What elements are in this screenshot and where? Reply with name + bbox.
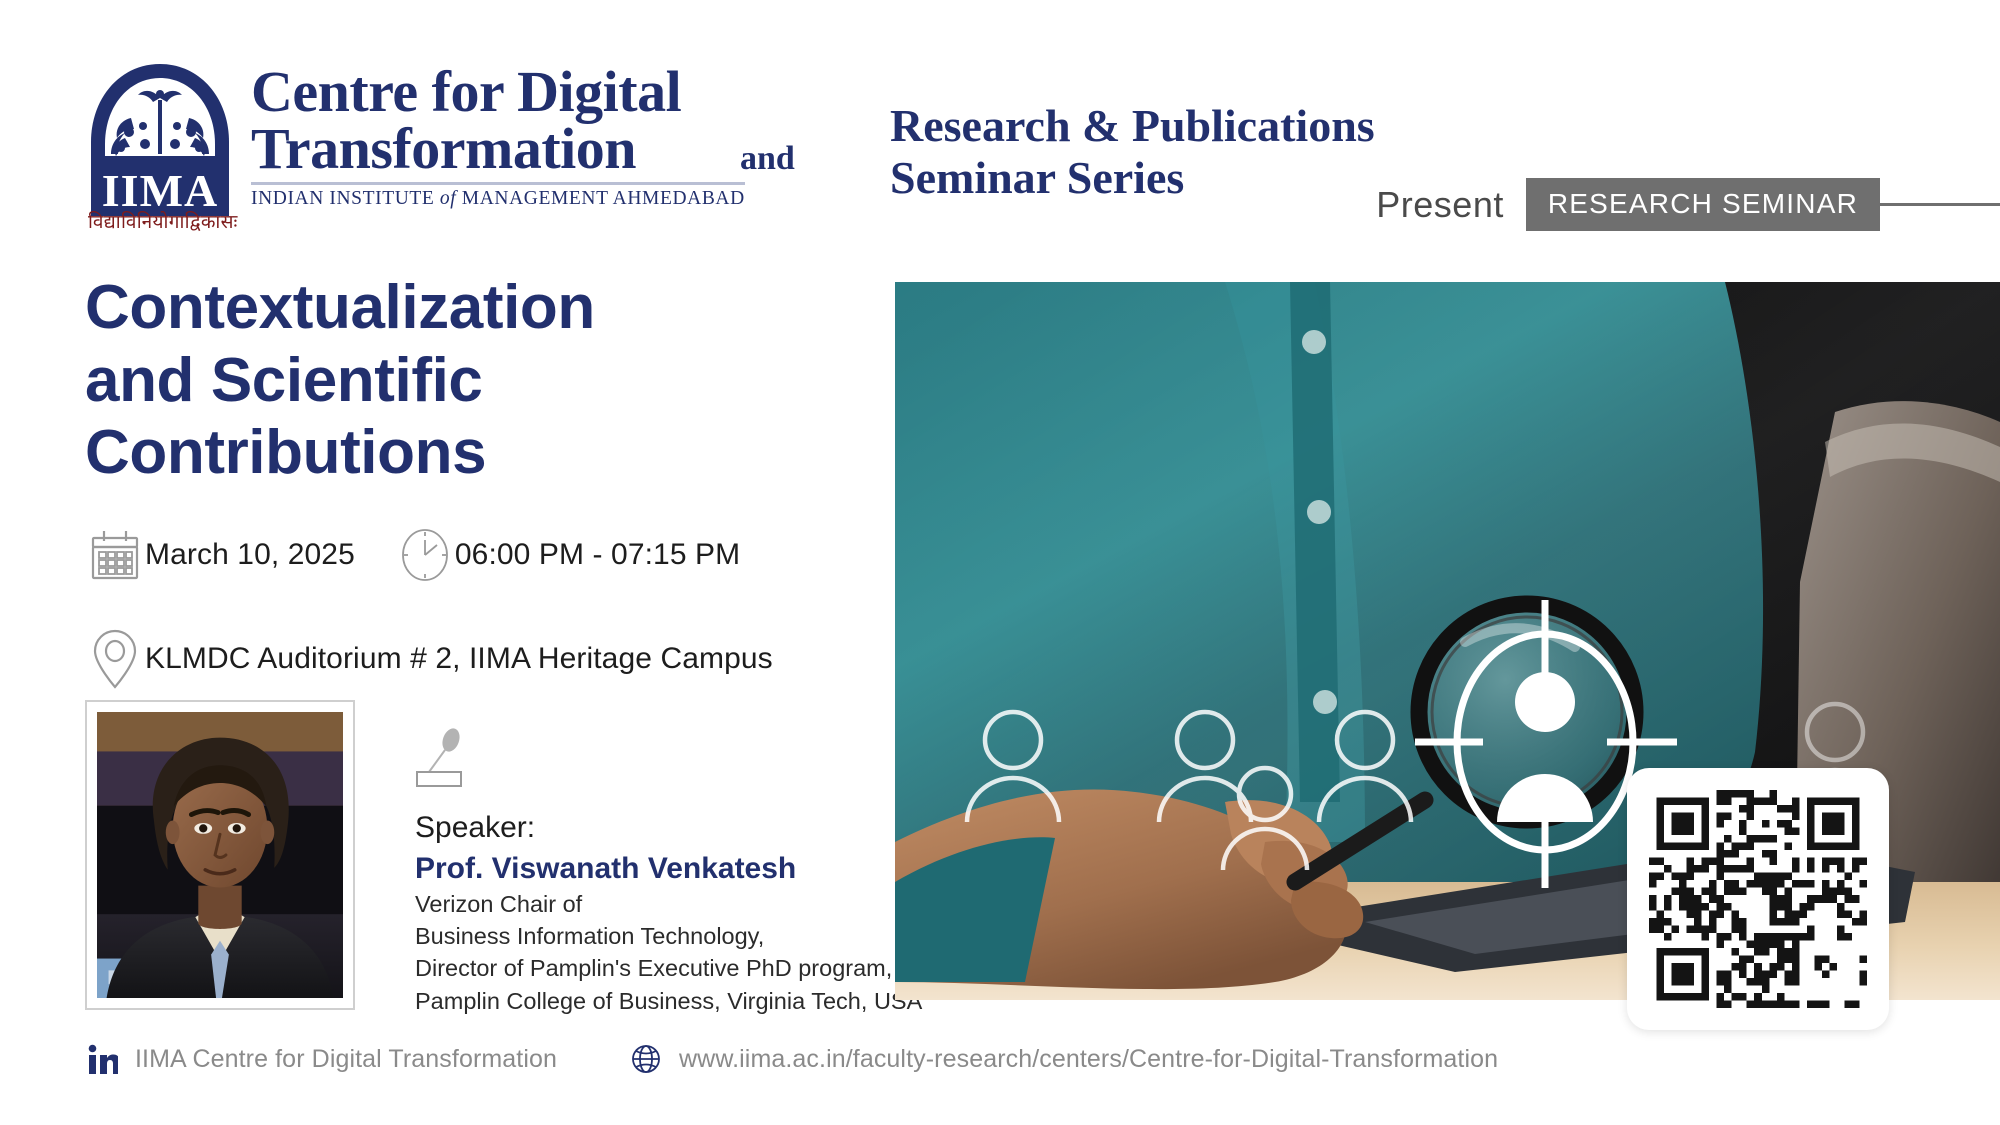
location-pin-icon — [85, 629, 145, 689]
iima-arch-logo-icon: IIMA — [85, 60, 235, 220]
title-line-3: Contributions — [85, 417, 805, 490]
logo-line-1: Centre for Digital — [251, 64, 745, 121]
venue-row: KLMDC Auditorium # 2, IIMA Heritage Camp… — [85, 629, 865, 689]
logo-subtitle-of: of — [440, 188, 456, 209]
speaker-info: Speaker: Prof. Viswanath Venkatesh Veriz… — [415, 728, 922, 1017]
podium-microphone-icon — [415, 728, 922, 795]
logo-line-2: Transformation — [251, 121, 745, 178]
logo-subtitle: INDIAN INSTITUTE of MANAGEMENT AHMEDABAD — [251, 188, 745, 210]
present-label: Present — [1376, 184, 1504, 226]
speaker-affiliation-3: Director of Pamplin's Executive PhD prog… — [415, 952, 922, 984]
linkedin-handle: IIMA Centre for Digital Transformation — [135, 1045, 557, 1074]
avatar — [97, 712, 343, 998]
event-date: March 10, 2025 — [145, 538, 355, 572]
logo-wordmark: Centre for Digital Transformation INDIAN… — [251, 64, 745, 210]
globe-icon — [629, 1042, 663, 1076]
date-time-row: March 10, 2025 06:00 PM - 07:15 PM — [85, 525, 865, 585]
speaker-photo-frame — [85, 700, 355, 1010]
badge-trailing-line — [1880, 203, 2000, 206]
linkedin-link[interactable]: IIMA Centre for Digital Transformation — [85, 1042, 557, 1076]
title-line-2: and Scientific — [85, 345, 805, 418]
speaker-name: Prof. Viswanath Venkatesh — [415, 849, 922, 888]
linkedin-icon — [85, 1042, 119, 1076]
event-venue: KLMDC Auditorium # 2, IIMA Heritage Camp… — [145, 642, 773, 676]
present-badge-group: Present RESEARCH SEMINAR — [1376, 178, 2000, 231]
speaker-affiliation-4: Pamplin College of Business, Virginia Te… — [415, 985, 922, 1017]
registration-qr-code[interactable] — [1649, 790, 1867, 1008]
status-badge: RESEARCH SEMINAR — [1526, 178, 1880, 231]
conjunction-and: and — [740, 140, 795, 178]
seminar-poster: IIMA Centre for Digital Transformation I… — [0, 0, 2000, 1125]
speaker-section: Speaker: Prof. Viswanath Venkatesh Veriz… — [85, 700, 922, 1017]
logo-subtitle-part-a: INDIAN INSTITUTE — [251, 188, 440, 209]
page-title: Contextualization and Scientific Contrib… — [85, 272, 805, 490]
logo-divider — [251, 182, 745, 185]
clock-icon — [395, 525, 455, 585]
speaker-label: Speaker: — [415, 809, 922, 847]
logo-subtitle-part-b: MANAGEMENT AHMEDABAD — [456, 188, 745, 209]
poster-header: IIMA Centre for Digital Transformation I… — [0, 0, 2000, 250]
calendar-icon — [85, 525, 145, 585]
speaker-affiliation-2: Business Information Technology, — [415, 920, 922, 952]
partner-series-line-2: Seminar Series — [890, 152, 1375, 204]
website-link[interactable]: www.iima.ac.in/faculty-research/centers/… — [629, 1042, 1498, 1076]
iima-cdt-logo: IIMA Centre for Digital Transformation I… — [85, 60, 745, 220]
qr-code-card[interactable] — [1627, 768, 1889, 1030]
website-url: www.iima.ac.in/faculty-research/centers/… — [679, 1045, 1498, 1074]
title-line-1: Contextualization — [85, 272, 805, 345]
sanskrit-motto: विद्याविनियोगाद्विकासः — [88, 208, 238, 234]
event-details: March 10, 2025 06:00 PM - 07:15 PM — [85, 525, 865, 689]
event-time: 06:00 PM - 07:15 PM — [455, 538, 740, 572]
speaker-affiliation-1: Verizon Chair of — [415, 888, 922, 920]
partner-series-title: Research & Publications Seminar Series — [890, 100, 1375, 203]
poster-footer: IIMA Centre for Digital Transformation w… — [85, 1042, 1498, 1076]
partner-series-line-1: Research & Publications — [890, 100, 1375, 152]
